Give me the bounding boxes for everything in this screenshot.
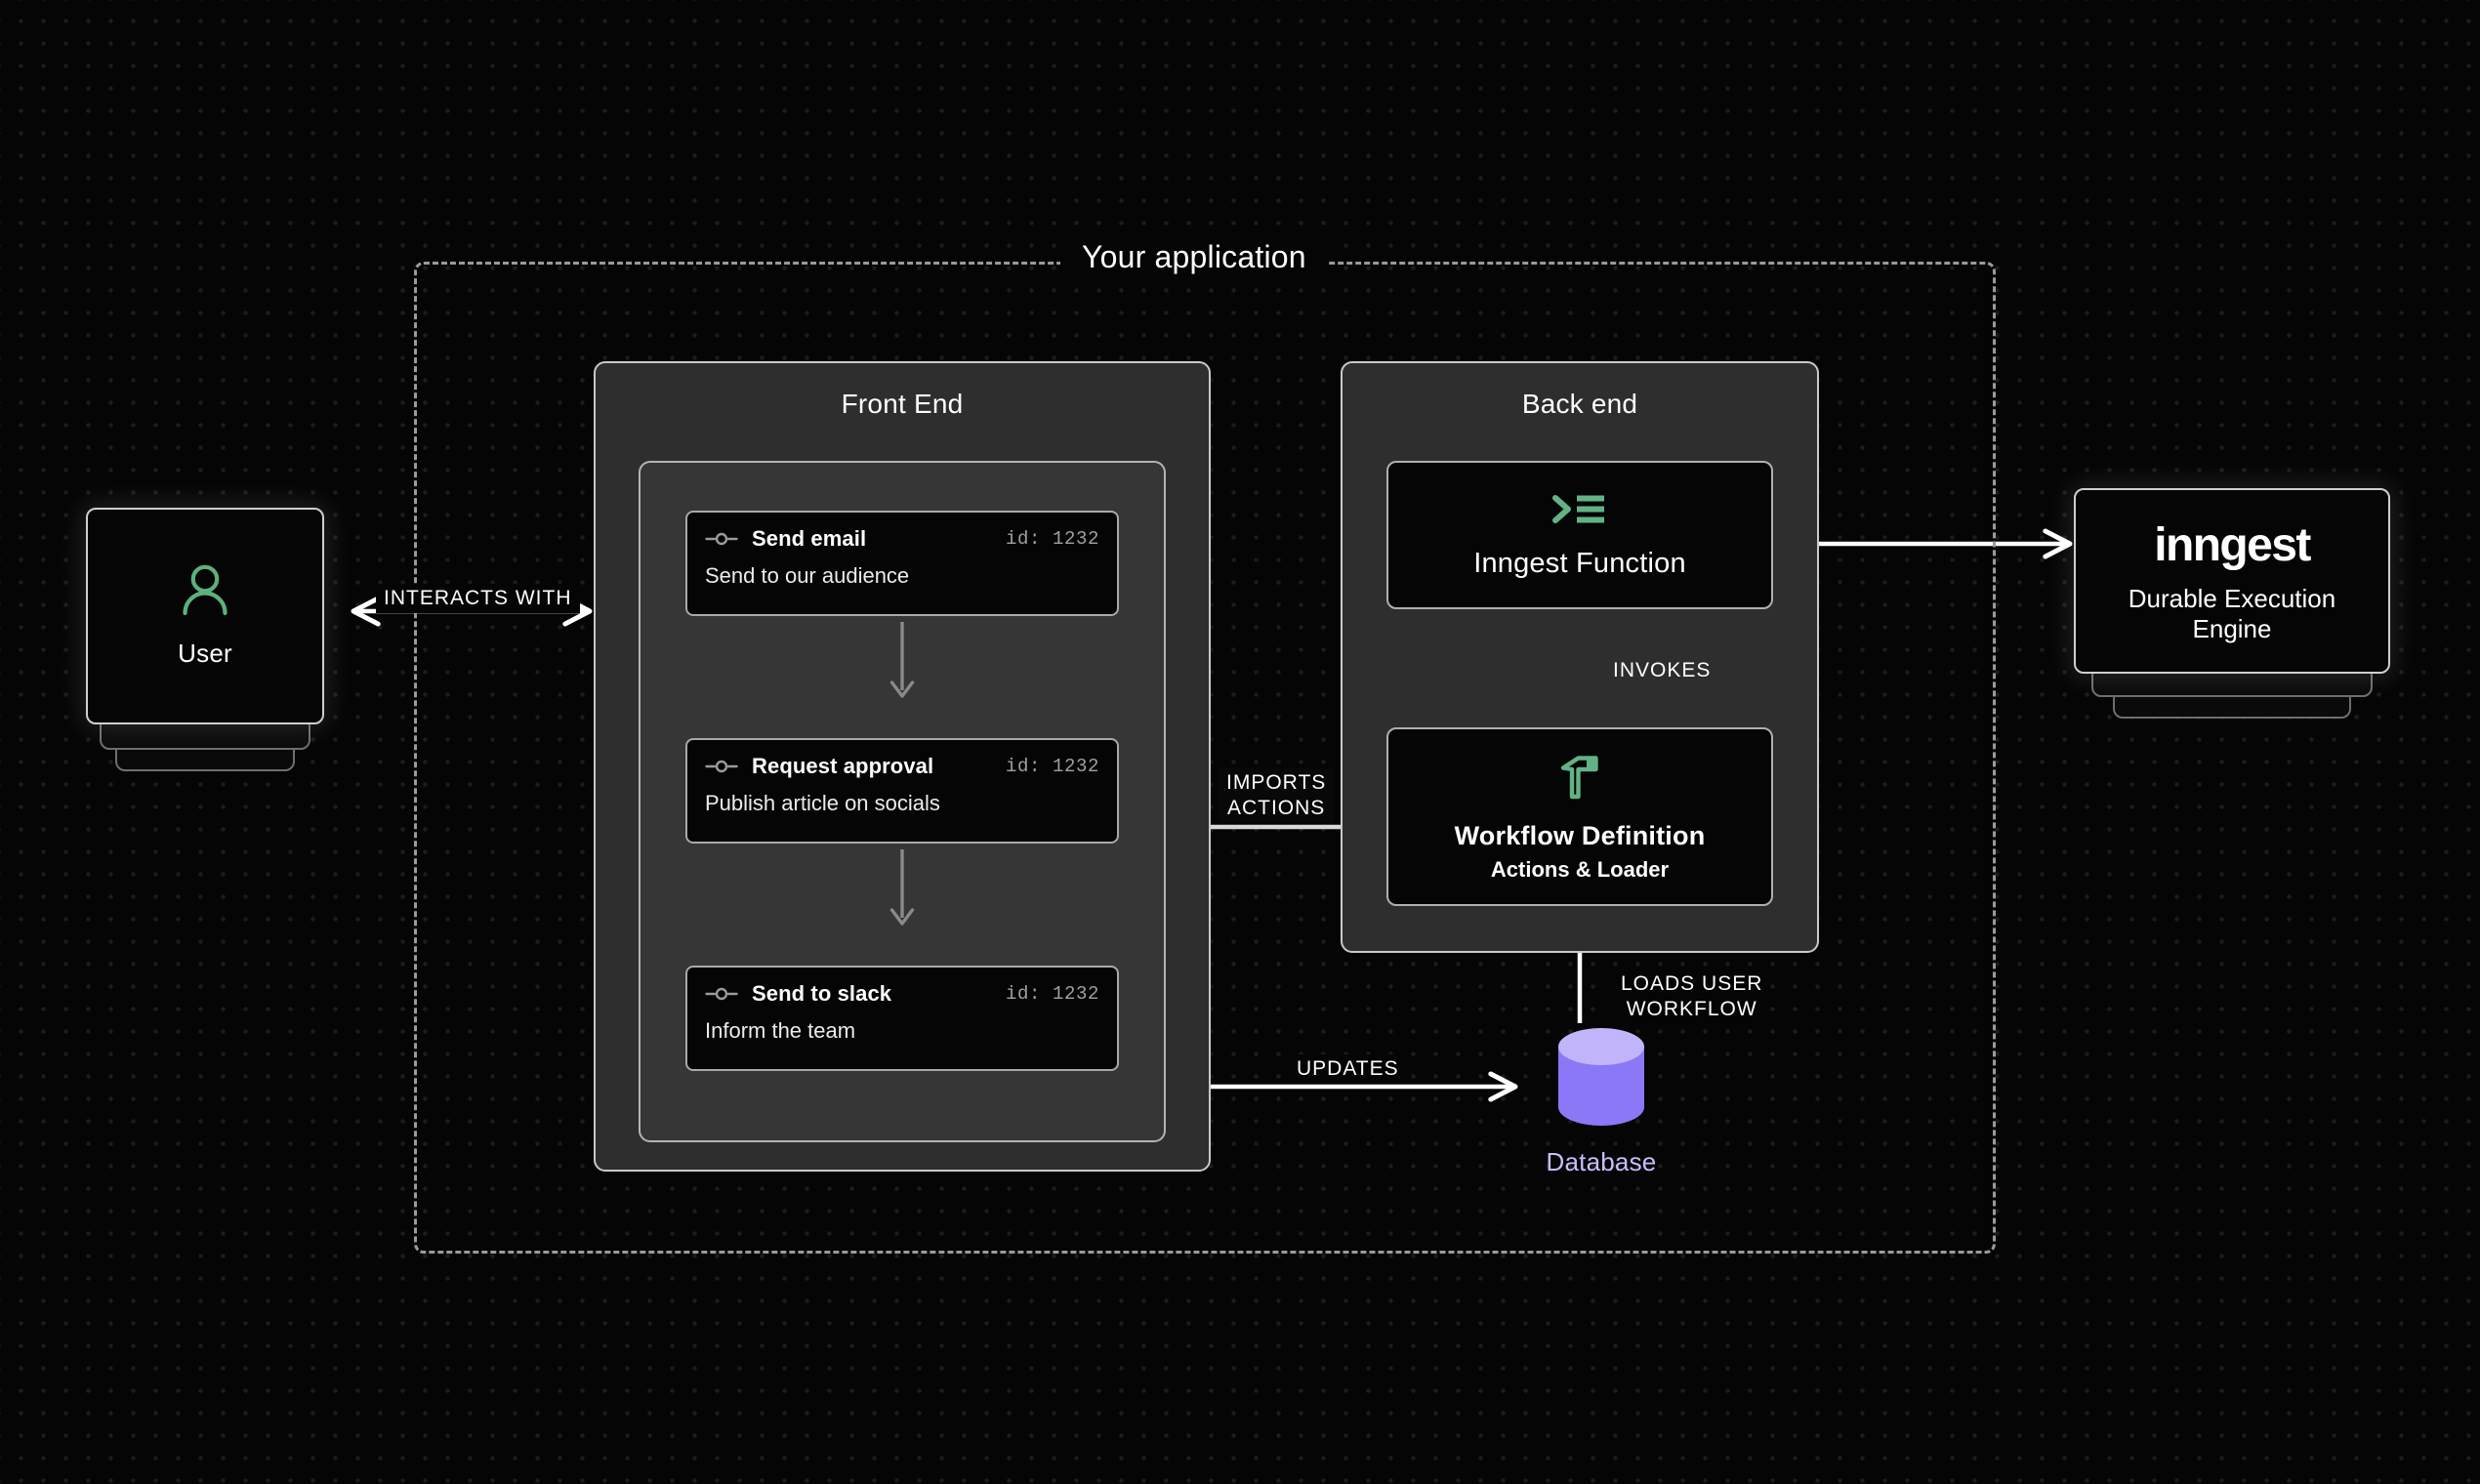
edge-label-updates: UPDATES — [1289, 1054, 1407, 1084]
workflow-step-id: id: 1232 — [1006, 983, 1099, 1005]
inngest-subtitle-line-1: Durable Execution — [2129, 584, 2335, 614]
inngest-node-face: inngest Durable Execution Engine — [2074, 488, 2390, 674]
edge-label-loads-user-workflow-line-1: LOADS USER — [1621, 971, 1762, 997]
hammer-icon — [1556, 752, 1603, 807]
edge-label-imports-actions: IMPORTS ACTIONS — [1219, 768, 1334, 822]
app-boundary-title: Your application — [1060, 239, 1328, 275]
user-node-face: User — [86, 508, 324, 724]
workflow-step-connector — [887, 622, 918, 704]
user-node-label: User — [178, 639, 232, 669]
inngest-function-block[interactable]: Inngest Function — [1386, 461, 1773, 609]
database-node[interactable]: Database — [1523, 1025, 1679, 1177]
inngest-logo: inngest — [2154, 518, 2309, 572]
workflow-step-card[interactable]: Send email id: 1232 Send to our audience — [685, 511, 1119, 616]
workflow-step-title: Send email — [752, 526, 866, 552]
workflow-step-header: Request approval id: 1232 — [687, 740, 1117, 793]
terminal-icon — [1551, 490, 1608, 534]
workflow-definition-sublabel: Actions & Loader — [1491, 857, 1669, 883]
workflow-step-id: id: 1232 — [1006, 756, 1099, 777]
inngest-function-label: Inngest Function — [1473, 548, 1686, 580]
back-end-panel-title: Back end — [1343, 389, 1817, 420]
workflow-definition-block[interactable]: Workflow Definition Actions & Loader — [1386, 727, 1773, 906]
edge-label-interacts-with: INTERACTS WITH — [376, 584, 580, 613]
workflow-step-title: Send to slack — [752, 981, 891, 1007]
front-end-panel-title: Front End — [596, 389, 1209, 420]
inngest-subtitle: Durable Execution Engine — [2129, 584, 2335, 643]
workflow-step-card[interactable]: Send to slack id: 1232 Inform the team — [685, 966, 1119, 1071]
edge-label-loads-user-workflow: LOADS USER WORKFLOW — [1613, 969, 1770, 1023]
workflow-step-description: Send to our audience — [687, 563, 1117, 589]
database-cylinder-icon — [1552, 1025, 1650, 1134]
workflow-step-id: id: 1232 — [1006, 528, 1099, 550]
inngest-node[interactable]: inngest Durable Execution Engine — [2074, 488, 2390, 674]
workflow-step-header: Send email id: 1232 — [687, 513, 1117, 565]
workflow-step-card[interactable]: Request approval id: 1232 Publish articl… — [685, 738, 1119, 844]
workflow-node-icon — [705, 986, 738, 1002]
workflow-step-description: Inform the team — [687, 1018, 1117, 1044]
workflow-step-header: Send to slack id: 1232 — [687, 968, 1117, 1020]
user-icon — [180, 563, 230, 621]
database-label: Database — [1547, 1147, 1657, 1177]
workflow-node-icon — [705, 531, 738, 547]
workflow-definition-label: Workflow Definition — [1455, 821, 1706, 851]
workflow-step-description: Publish article on socials — [687, 791, 1117, 816]
workflow-step-title: Request approval — [752, 754, 933, 779]
diagram-canvas: Your application User inngest Durable Ex… — [0, 0, 2480, 1484]
inngest-subtitle-line-2: Engine — [2129, 614, 2335, 644]
workflow-node-icon — [705, 759, 738, 774]
user-node[interactable]: User — [86, 508, 324, 724]
edge-label-invokes: INVOKES — [1605, 656, 1718, 685]
edge-label-imports-actions-line-1: IMPORTS — [1226, 770, 1326, 796]
edge-label-imports-actions-line-2: ACTIONS — [1226, 796, 1326, 821]
edge-label-loads-user-workflow-line-2: WORKFLOW — [1621, 997, 1762, 1022]
workflow-step-connector — [887, 849, 918, 931]
